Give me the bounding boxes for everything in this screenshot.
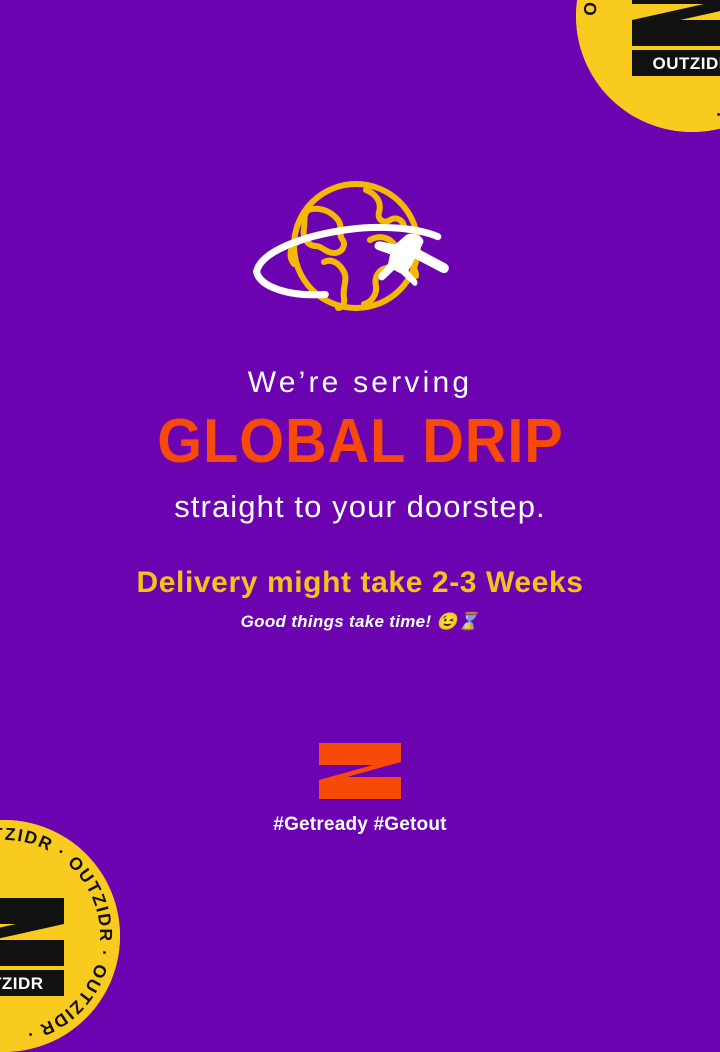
delivery-notice: Delivery might take 2-3 Weeks (136, 568, 583, 598)
svg-text:OUTZIDR: OUTZIDR (0, 974, 44, 993)
footer-hashtags: #Getready #Getout (273, 815, 446, 834)
headline-post: straight to your doorstep. (174, 491, 546, 522)
orbit-trail-lower (254, 272, 327, 300)
outzidr-z-logo (317, 741, 403, 801)
globe-airplane-icon (246, 176, 474, 324)
headline-pre: We’re serving (248, 368, 472, 398)
badge-wordmark: OUTZIDR (0, 970, 64, 996)
page-title: GLOBAL DRIP (157, 411, 563, 473)
delivery-subnote: Good things take time! 😉⌛ (241, 613, 480, 630)
footer: #Getready #Getout (0, 741, 720, 834)
